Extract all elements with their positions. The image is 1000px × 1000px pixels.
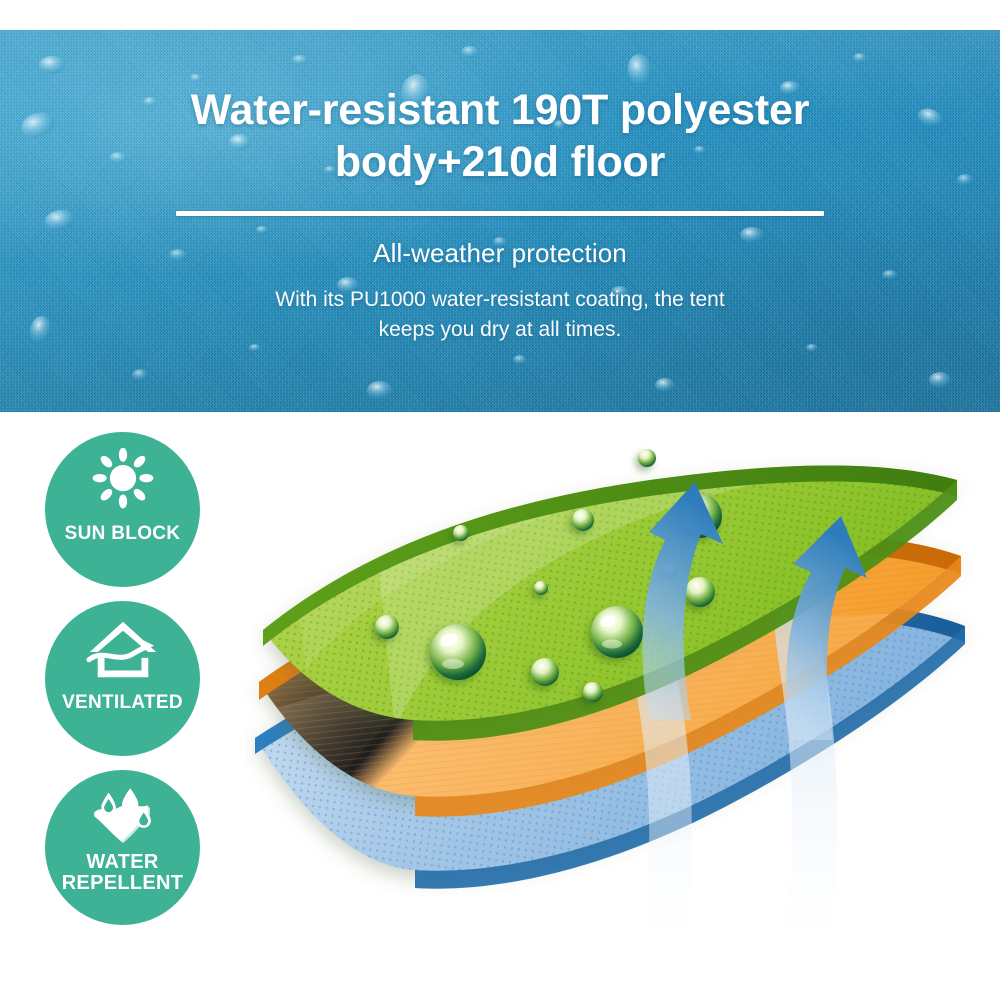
- hero-divider: [176, 211, 824, 216]
- fabric-water-droplets-icon: [87, 786, 159, 848]
- hero-banner: Water-resistant 190T polyester body+210d…: [0, 30, 1000, 412]
- badge-sun-block[interactable]: SUN BLOCK: [45, 432, 200, 587]
- badge-water-repellent[interactable]: WATER REPELLENT: [45, 770, 200, 925]
- hero-title: Water-resistant 190T polyester body+210d…: [191, 84, 810, 189]
- sun-icon: [84, 448, 162, 518]
- fabric-layers-svg: [245, 420, 985, 980]
- badge-ventilated[interactable]: VENTILATED: [45, 601, 200, 756]
- three-layer-fabric-diagram: [245, 420, 985, 980]
- badge-label: VENTILATED: [62, 693, 183, 713]
- hero-subtitle: All-weather protection: [373, 238, 627, 269]
- hero-description: With its PU1000 water-resistant coating,…: [275, 285, 724, 346]
- feature-badge-list: SUN BLOCK VENTILATED: [45, 432, 213, 939]
- badge-label: SUN BLOCK: [65, 524, 181, 544]
- badge-label: WATER REPELLENT: [62, 852, 184, 894]
- product-feature-panel: Water-resistant 190T polyester body+210d…: [0, 0, 1000, 1000]
- house-airflow-icon: [84, 617, 162, 687]
